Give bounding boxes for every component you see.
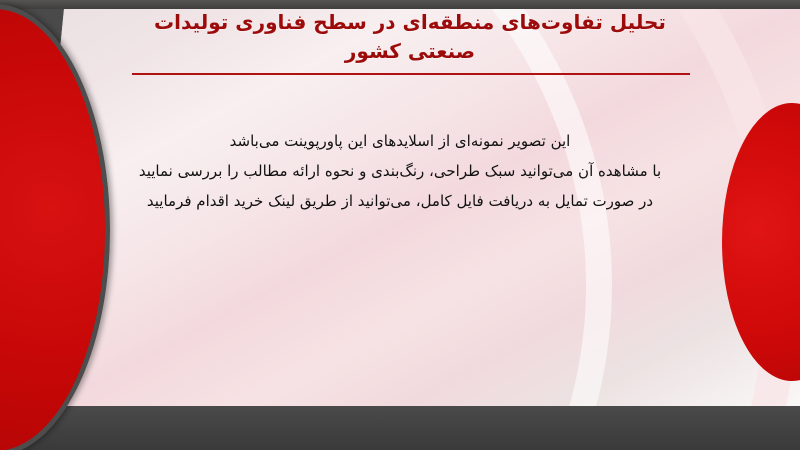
title-underline-rule [132,73,690,75]
slide-title-line-1: تحلیل تفاوت‌های منطقه‌ای در سطح فناوری ت… [130,8,690,37]
presentation-slide: تحلیل تفاوت‌های منطقه‌ای در سطح فناوری ت… [0,0,800,450]
slide-title: تحلیل تفاوت‌های منطقه‌ای در سطح فناوری ت… [130,8,690,66]
slide-title-line-2: صنعتی کشور [130,37,690,66]
bottom-frame-band [0,406,800,450]
body-line-2: با مشاهده آن می‌توانید سبک طراحی، رنگ‌بن… [110,156,690,186]
body-line-3: در صورت تمایل به دریافت فایل کامل، می‌تو… [110,186,690,216]
body-line-1: این تصویر نمونه‌ای از اسلایدهای این پاور… [110,126,690,156]
slide-body-text: این تصویر نمونه‌ای از اسلایدهای این پاور… [110,126,690,216]
